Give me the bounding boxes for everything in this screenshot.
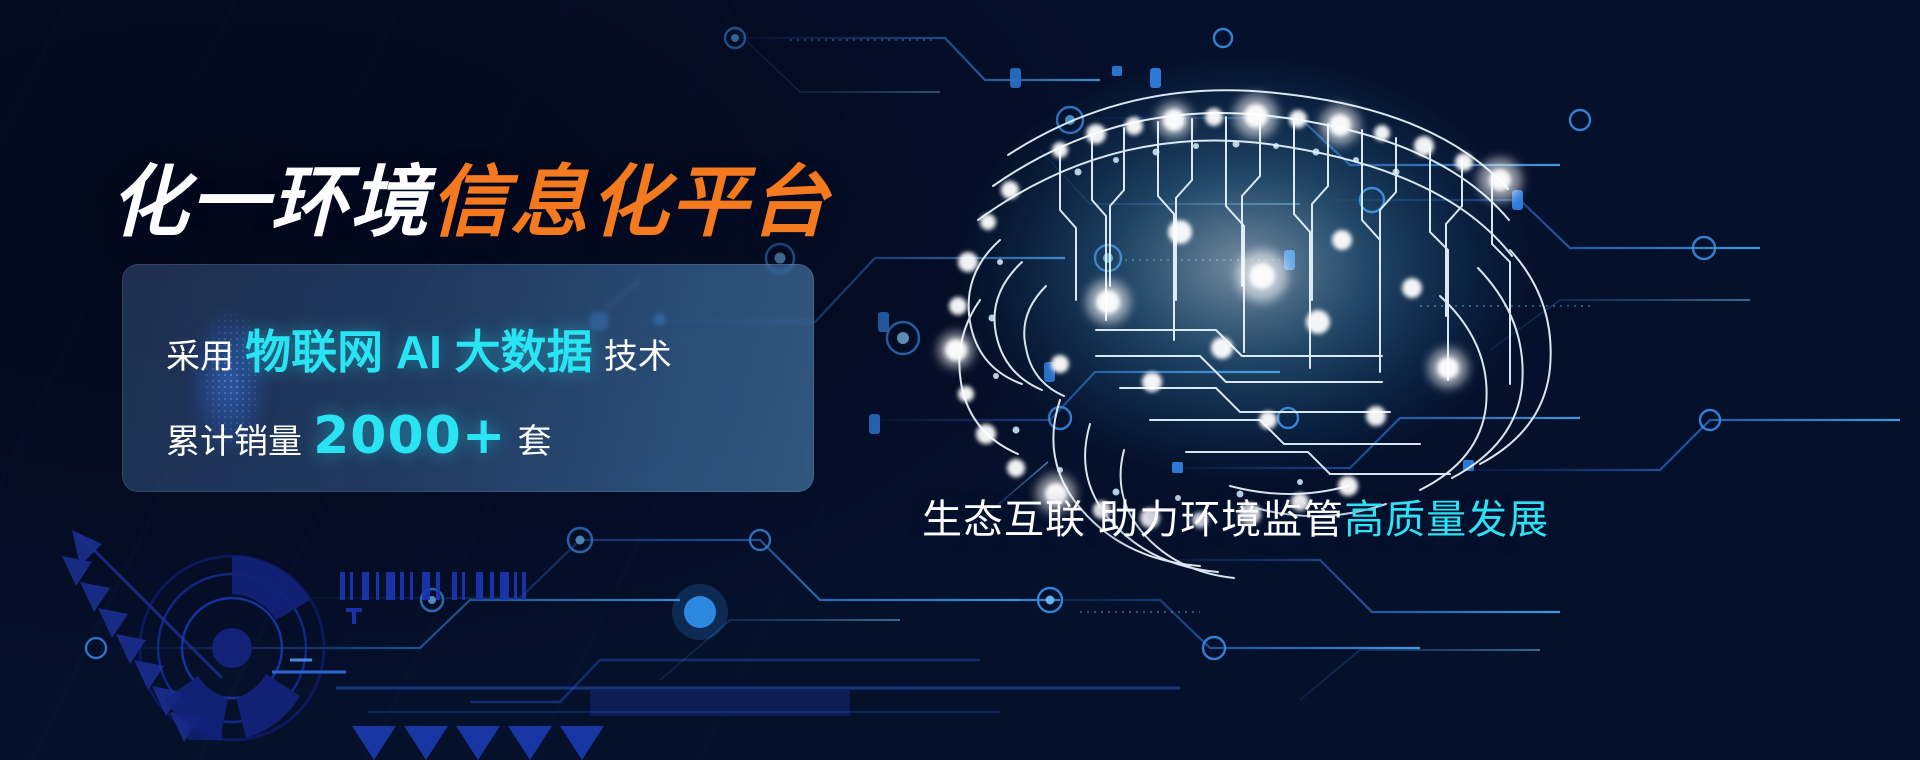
card-line-2: 累计销量 2000+ 套 bbox=[166, 406, 814, 466]
tagline: 生态互联 助力环境监管高质量发展 bbox=[922, 487, 1549, 545]
card-line-1: 采用 物联网 AI 大数据 技术 bbox=[166, 316, 814, 382]
tagline-white: 生态互联 助力环境监管 bbox=[922, 498, 1344, 542]
card-line1-prefix: 采用 bbox=[166, 338, 234, 376]
card-line2-suffix: 套 bbox=[518, 423, 552, 461]
card-line1-highlight: 物联网 AI 大数据 bbox=[245, 326, 593, 378]
barcode-marks-icon bbox=[340, 572, 526, 624]
chevron-arrows-icon bbox=[62, 530, 200, 742]
card-line2-prefix: 累计销量 bbox=[166, 423, 302, 461]
title-white: 化一环境 bbox=[110, 158, 430, 248]
accent-node-icon bbox=[672, 584, 728, 640]
card-line2-highlight: 2000+ bbox=[313, 406, 506, 466]
feature-card: 采用 物联网 AI 大数据 技术 累计销量 2000+ 套 bbox=[122, 264, 814, 492]
tagline-cyan: 高质量发展 bbox=[1344, 498, 1549, 542]
banner-root: 化一环境信息化平台 采用 物联网 AI 大数据 技术 累计销量 2000+ 套 … bbox=[0, 0, 1920, 760]
title-orange: 信息化平台 bbox=[430, 158, 830, 248]
radar-hud-icon bbox=[140, 556, 346, 740]
page-title: 化一环境信息化平台 bbox=[110, 140, 830, 252]
card-line1-suffix: 技术 bbox=[604, 338, 672, 376]
